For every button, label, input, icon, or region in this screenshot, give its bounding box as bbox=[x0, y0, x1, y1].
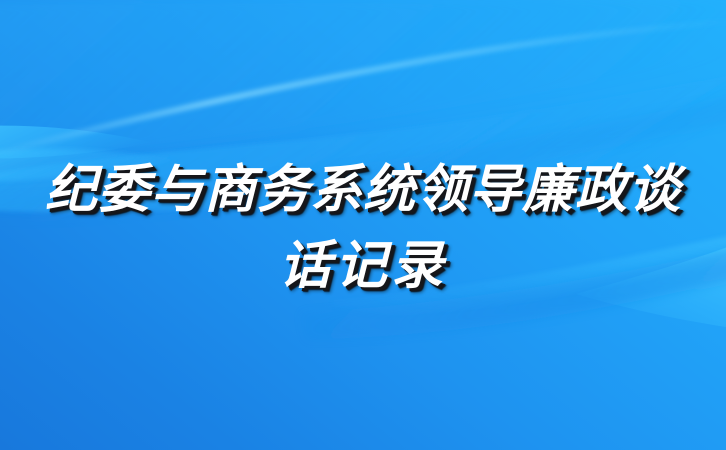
cover-banner: 纪委与商务系统领导廉政谈 话记录 bbox=[0, 0, 726, 450]
title-line-2: 话记录 bbox=[0, 228, 726, 304]
title-line-1: 纪委与商务系统领导廉政谈 bbox=[0, 152, 726, 228]
center-soft-band bbox=[0, 0, 726, 168]
page-title: 纪委与商务系统领导廉政谈 话记录 bbox=[0, 152, 726, 304]
diagonal-light-streak bbox=[0, 18, 726, 158]
